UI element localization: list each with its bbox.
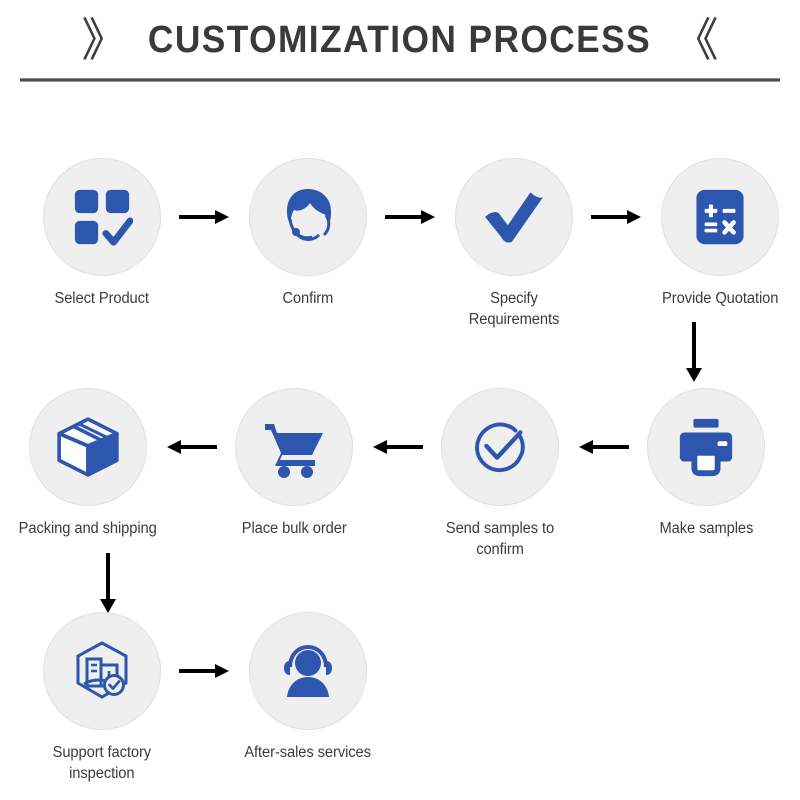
process-row-2: Packing and shipping Place bulk order <box>0 388 800 561</box>
grid-squares-check-icon <box>71 186 133 248</box>
arrow-down-icon <box>96 553 122 615</box>
step-label: Make samples <box>659 519 753 540</box>
step-label: Confirm <box>283 289 334 310</box>
connector-arrow-down-left <box>96 553 126 615</box>
process-row-3: Support factory inspection After-sales s… <box>0 612 800 785</box>
headphones-person-icon <box>276 639 340 703</box>
process-step-confirm[interactable]: Confirm <box>234 158 382 310</box>
step-label: Place bulk order <box>242 519 347 540</box>
shopping-cart-icon <box>262 415 326 479</box>
process-step-send-samples-to-confirm[interactable]: Send samples to confirm <box>426 388 574 561</box>
customization-process-infographic: 》 CUSTOMIZATION PROCESS 《 Select Product <box>0 0 800 800</box>
step-label: Specify Requirements <box>444 289 585 331</box>
connector-arrow-left <box>368 388 426 506</box>
circle-check-outline-icon <box>469 416 531 478</box>
arrow-right-icon <box>179 662 231 680</box>
process-step-provide-quotation[interactable]: Provide Quotation <box>646 158 794 310</box>
connector-arrow-left <box>162 388 220 506</box>
arrow-left-icon <box>165 438 217 456</box>
process-step-support-factory-inspection[interactable]: Support factory inspection <box>28 612 176 785</box>
icon-circle <box>29 388 147 506</box>
icon-circle <box>647 388 765 506</box>
calculator-icon <box>691 188 749 246</box>
process-step-make-samples[interactable]: Make samples <box>632 388 780 540</box>
icon-circle <box>441 388 559 506</box>
step-label: Send samples to confirm <box>430 519 571 561</box>
icon-circle <box>235 388 353 506</box>
icon-circle <box>661 158 779 276</box>
arrow-right-icon <box>179 208 231 226</box>
connector-arrow-right <box>176 158 234 276</box>
process-step-packing-and-shipping[interactable]: Packing and shipping <box>14 388 162 540</box>
connector-arrow-right <box>588 158 646 276</box>
process-step-select-product[interactable]: Select Product <box>28 158 176 310</box>
arrow-down-icon <box>682 322 708 384</box>
process-step-place-bulk-order[interactable]: Place bulk order <box>220 388 368 540</box>
connector-arrow-left <box>574 388 632 506</box>
chevron-left-double-icon: 《 <box>673 17 719 63</box>
headset-agent-icon <box>276 185 340 249</box>
arrow-left-icon <box>577 438 629 456</box>
process-step-specify-requirements[interactable]: Specify Requirements <box>440 158 588 331</box>
factory-inspection-shield-icon <box>70 639 134 703</box>
arrow-left-icon <box>371 438 423 456</box>
step-label: Packing and shipping <box>19 519 157 540</box>
connector-arrow-down-right <box>682 322 712 384</box>
icon-circle <box>43 158 161 276</box>
arrow-right-icon <box>591 208 643 226</box>
checkmark-brush-icon <box>481 184 547 250</box>
arrow-right-icon <box>385 208 437 226</box>
connector-arrow-right <box>176 612 234 730</box>
icon-circle <box>455 158 573 276</box>
package-box-icon <box>55 414 121 480</box>
header: 》 CUSTOMIZATION PROCESS 《 <box>0 0 800 82</box>
page-title: CUSTOMIZATION PROCESS <box>148 19 651 62</box>
chevron-right-double-icon: 》 <box>81 17 127 63</box>
connector-arrow-right <box>382 158 440 276</box>
icon-circle <box>43 612 161 730</box>
title-row: 》 CUSTOMIZATION PROCESS 《 <box>0 14 800 66</box>
step-label: Support factory inspection <box>53 743 151 785</box>
step-label: Select Product <box>55 289 149 310</box>
step-label: After-sales services <box>245 743 372 764</box>
process-step-after-sales-services[interactable]: After-sales services <box>234 612 382 764</box>
step-label: Provide Quotation <box>662 289 778 310</box>
printer-icon <box>675 416 737 478</box>
process-row-1: Select Product Confirm <box>0 158 800 331</box>
header-divider <box>20 78 780 82</box>
icon-circle <box>249 158 367 276</box>
icon-circle <box>249 612 367 730</box>
